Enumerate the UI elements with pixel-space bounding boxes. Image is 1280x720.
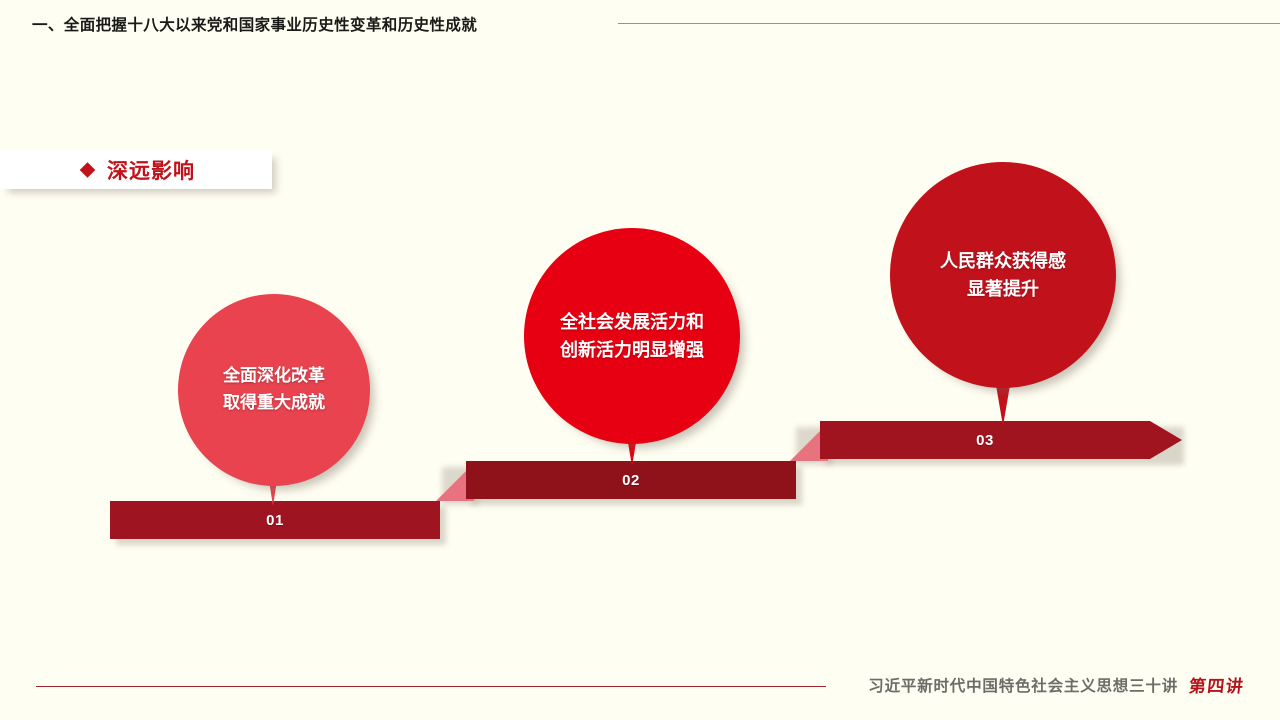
bubble-circle-03: 人民群众获得感 显著提升 xyxy=(890,162,1116,388)
bubble-circle-01: 全面深化改革 取得重大成就 xyxy=(178,294,370,486)
bubble-line-03-2: 显著提升 xyxy=(967,275,1039,303)
bubble-line-02-2: 创新活力明显增强 xyxy=(560,336,704,364)
step-number-03: 03 xyxy=(976,432,994,449)
step-bar-01[interactable]: 01 xyxy=(110,501,440,539)
bubble-line-01-1: 全面深化改革 xyxy=(223,363,325,390)
bubble-line-02-1: 全社会发展活力和 xyxy=(560,308,704,336)
footer-divider xyxy=(36,686,826,687)
bubble-circle-02: 全社会发展活力和 创新活力明显增强 xyxy=(524,228,740,444)
step-number-02: 02 xyxy=(622,472,640,489)
bubble-line-03-1: 人民群众获得感 xyxy=(940,247,1066,275)
slide: 一、全面把握十八大以来党和国家事业历史性变革和历史性成就 深远影响 01 02 … xyxy=(0,0,1280,720)
step-arrow-diagram: 01 02 03 全面深化改革 取得重大成就 全社会发展活力和 创新活力明显增强 xyxy=(0,0,1280,720)
step-number-01: 01 xyxy=(266,512,284,529)
step-bar-03[interactable]: 03 xyxy=(820,421,1182,459)
footer-lecture-mark: 第四讲 xyxy=(1187,672,1245,697)
step-bar-02[interactable]: 02 xyxy=(466,461,796,499)
bubble-line-01-2: 取得重大成就 xyxy=(223,390,325,417)
footer-series-title: 习近平新时代中国特色社会主义思想三十讲 xyxy=(868,674,1178,696)
